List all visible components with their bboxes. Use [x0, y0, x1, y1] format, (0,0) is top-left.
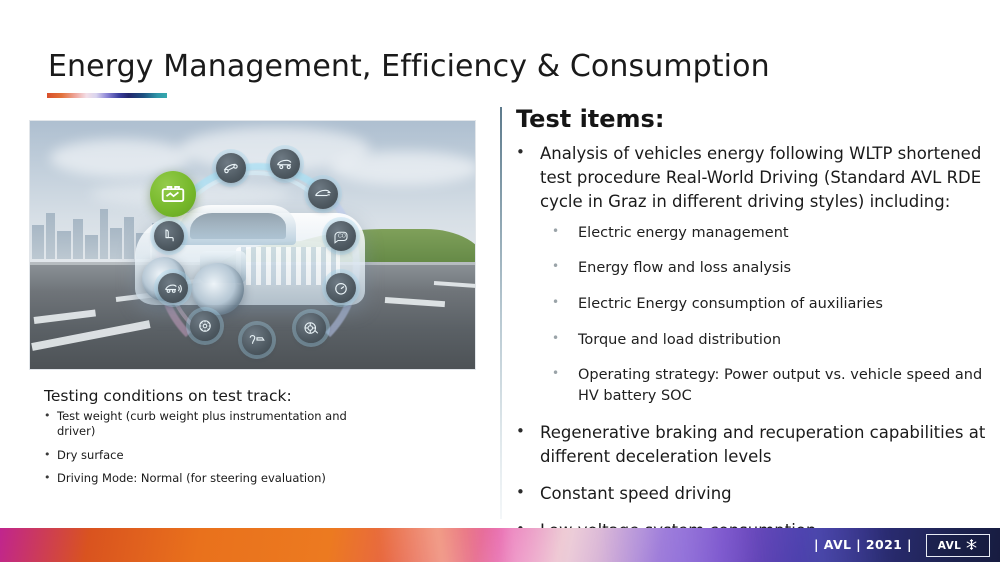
bullet-marker: •: [44, 409, 57, 440]
sub-list-item-label: Electric energy management: [578, 223, 789, 244]
sub-list-item: • Electric Energy consumption of auxilia…: [552, 294, 986, 315]
sub-bullet-marker: •: [552, 365, 578, 406]
list-item-label: Driving Mode: Normal (for steering evalu…: [57, 471, 326, 486]
suspension-icon: [216, 153, 246, 183]
sub-list-item-label: Torque and load distribution: [578, 330, 781, 351]
gauge-icon: [326, 273, 356, 303]
testing-conditions-heading: Testing conditions on test track:: [44, 387, 292, 405]
sub-list-item: • Electric energy management: [552, 223, 986, 244]
brake-disc-icon: [190, 311, 220, 341]
sub-bullet-marker: •: [552, 258, 578, 279]
sub-list-item-label: Energy flow and loss analysis: [578, 258, 791, 279]
bullet-marker: •: [516, 142, 540, 214]
list-item: • Regenerative braking and recuperation …: [516, 421, 986, 469]
column-divider: [500, 107, 502, 519]
sub-bullet-marker: •: [552, 223, 578, 244]
list-item: • Test weight (curb weight plus instrume…: [44, 409, 374, 440]
bullet-marker: •: [44, 448, 57, 463]
avl-logo: AVL: [926, 534, 990, 557]
sub-list-item: • Operating strategy: Power output vs. v…: [552, 365, 986, 406]
tire-icon: [296, 313, 326, 343]
sub-list-item-label: Operating strategy: Power output vs. veh…: [578, 365, 986, 406]
list-item-label: Regenerative braking and recuperation ca…: [540, 421, 986, 469]
list-item-label: Constant speed driving: [540, 482, 732, 506]
footer-light-streak: [597, 528, 763, 562]
test-items-list: • Analysis of vehicles energy following …: [516, 142, 986, 552]
vehicle-detection-icon: [158, 273, 188, 303]
aerodynamics-icon: [308, 179, 338, 209]
bullet-marker: •: [516, 421, 540, 469]
vehicle-illustration-image: CO: [29, 120, 476, 370]
sub-bullet-marker: •: [552, 330, 578, 351]
co2-icon: CO: [326, 221, 356, 251]
battery-icon: [150, 171, 196, 217]
bullet-marker: •: [516, 482, 540, 506]
sub-bullet-marker: •: [552, 294, 578, 315]
car-window-shape: [190, 213, 286, 239]
list-item: • Driving Mode: Normal (for steering eva…: [44, 471, 374, 486]
sub-list-item: • Energy flow and loss analysis: [552, 258, 986, 279]
trailer-icon: [270, 149, 300, 179]
svg-text:CO: CO: [338, 234, 346, 240]
test-items-sublist: • Electric energy management • Energy fl…: [552, 223, 986, 406]
testing-conditions-list: • Test weight (curb weight plus instrume…: [44, 409, 374, 494]
slide-footer: | AVL | 2021 | AVL: [0, 528, 1000, 562]
title-underline-rule: [47, 93, 167, 98]
list-item-label: Dry surface: [57, 448, 124, 463]
footer-light-streak: [467, 528, 564, 562]
test-items-heading: Test items:: [516, 105, 664, 133]
page-title: Energy Management, Efficiency & Consumpt…: [48, 50, 770, 83]
avl-logo-text: AVL: [938, 540, 961, 552]
avl-snowflake-icon: [965, 536, 978, 555]
exhaust-icon: [242, 325, 272, 355]
footer-credit: | AVL | 2021 |: [814, 537, 912, 552]
battery-pack-shape: [236, 247, 340, 285]
sub-list-item-label: Electric Energy consumption of auxiliari…: [578, 294, 883, 315]
list-item-label: Analysis of vehicles energy following WL…: [540, 142, 986, 214]
list-item: • Dry surface: [44, 448, 374, 463]
sub-list-item: • Torque and load distribution: [552, 330, 986, 351]
list-item: • Analysis of vehicles energy following …: [516, 142, 986, 214]
bullet-marker: •: [44, 471, 57, 486]
seat-icon: [154, 221, 184, 251]
rear-wheel-shape: [192, 263, 244, 315]
cloud-shape: [330, 151, 476, 185]
list-item: • Constant speed driving: [516, 482, 986, 506]
list-item-label: Test weight (curb weight plus instrument…: [57, 409, 374, 440]
